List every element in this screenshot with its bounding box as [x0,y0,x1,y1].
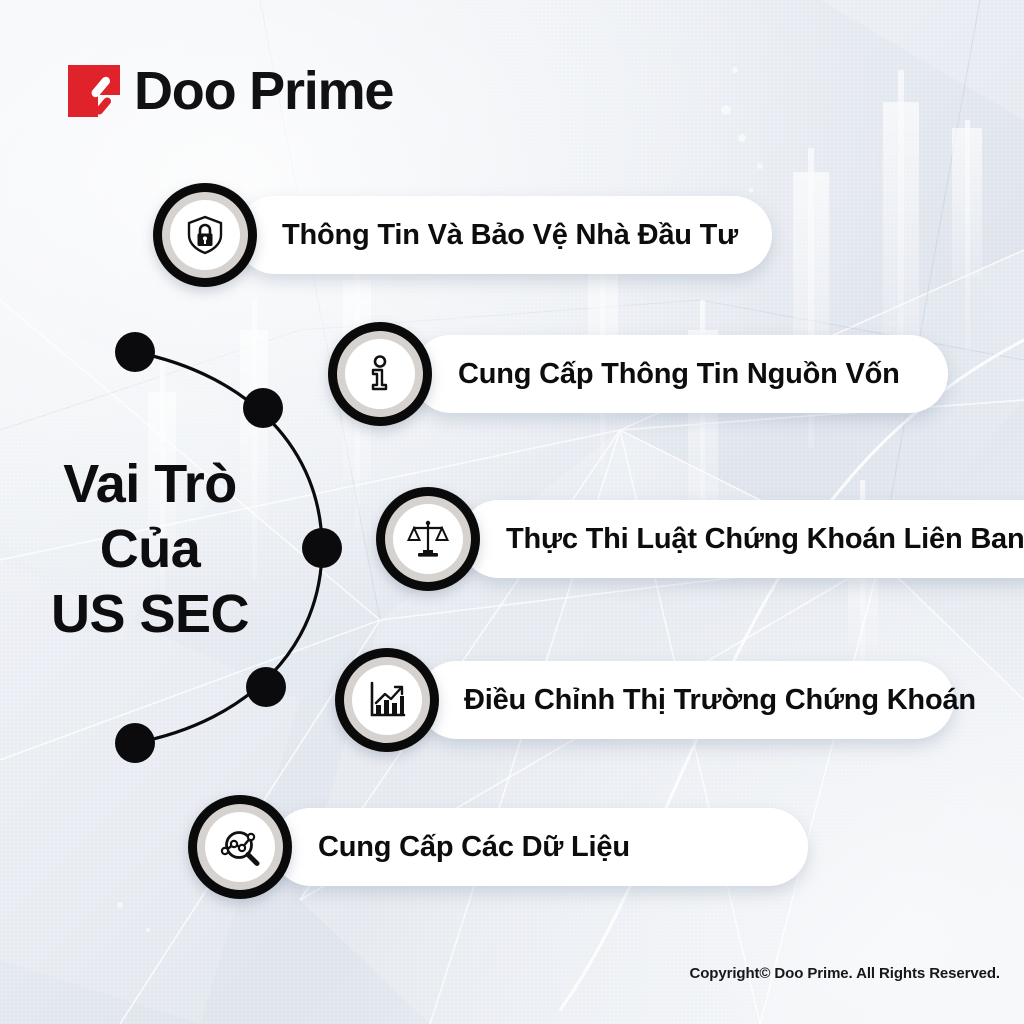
scales-justice-icon [393,504,463,574]
arc-node-4 [246,667,286,707]
feature-label-5: Cung Cấp Các Dữ Liệu [318,833,630,862]
badge-ring [162,192,248,278]
feature-badge-3[interactable] [376,487,480,591]
infographic-canvas: Doo Prime Vai Trò Của US SEC Thông Tin V… [0,0,1024,1024]
badge-ring [385,496,471,582]
information-icon [345,339,415,409]
badge-ring [337,331,423,417]
bar-chart-growth-icon [352,665,422,735]
feature-badge-1[interactable] [153,183,257,287]
feature-badge-4[interactable] [335,648,439,752]
feature-label-4: Điều Chỉnh Thị Trường Chứng Khoán [464,686,976,715]
feature-pill-4[interactable]: Điều Chỉnh Thị Trường Chứng Khoán [418,661,954,739]
feature-pill-1[interactable]: Thông Tin Và Bảo Vệ Nhà Đầu Tư [236,196,772,274]
arc-node-5 [115,723,155,763]
footer-copyright: Copyright© Doo Prime. All Rights Reserve… [689,965,1000,982]
arc-node-1 [115,332,155,372]
feature-label-1: Thông Tin Và Bảo Vệ Nhà Đầu Tư [282,221,738,250]
feature-pill-2[interactable]: Cung Cấp Thông Tin Nguồn Vốn [412,335,948,413]
feature-badge-5[interactable] [188,795,292,899]
magnifier-data-icon [205,812,275,882]
feature-pill-3[interactable]: Thực Thi Luật Chứng Khoán Liên Bang [460,500,1024,578]
badge-ring [344,657,430,743]
shield-lock-icon [170,200,240,270]
feature-label-3: Thực Thi Luật Chứng Khoán Liên Bang [506,525,1024,554]
arc-node-2 [243,388,283,428]
feature-pill-5[interactable]: Cung Cấp Các Dữ Liệu [272,808,808,886]
feature-label-2: Cung Cấp Thông Tin Nguồn Vốn [458,360,900,389]
arc-node-3 [302,528,342,568]
feature-badge-2[interactable] [328,322,432,426]
badge-ring [197,804,283,890]
